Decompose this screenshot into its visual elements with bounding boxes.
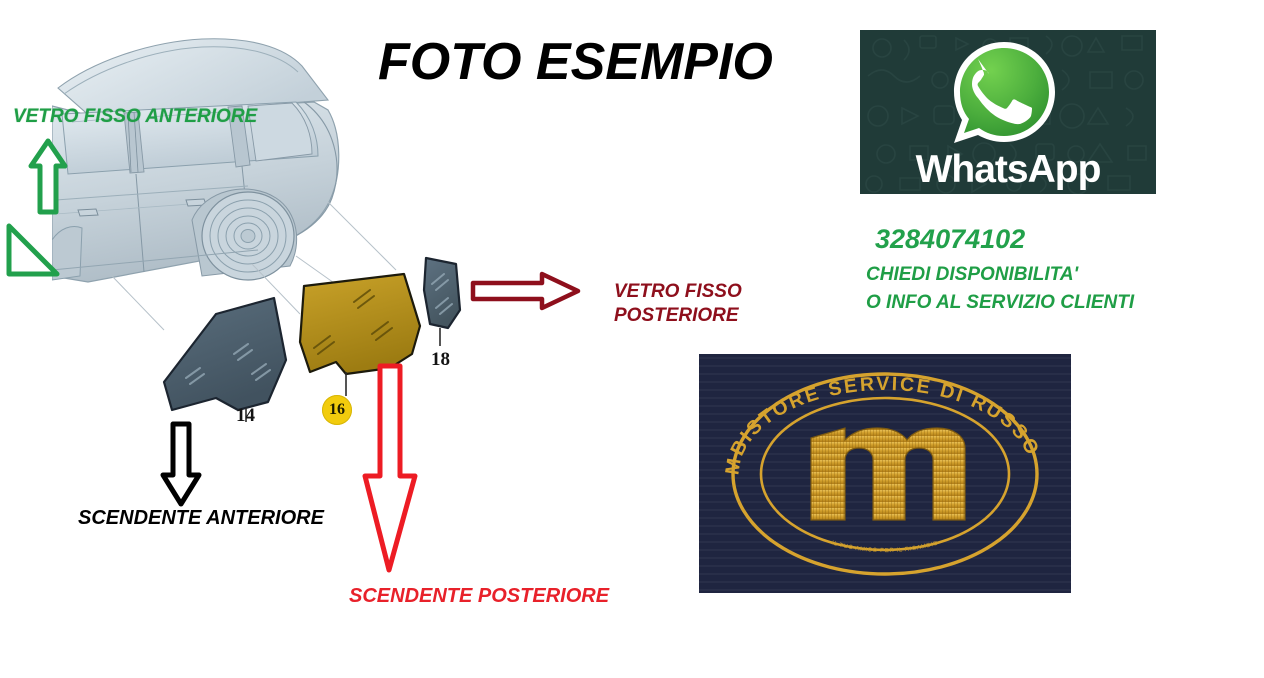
label-vetro-fisso-anteriore: VETRO FISSO ANTERIORE bbox=[13, 106, 257, 128]
screenshot-canvas: 14 16 17 18 FOTO ESEMPIO VETRO FISSO ANT… bbox=[0, 0, 1264, 678]
part-number-badge-16: 16 bbox=[322, 395, 352, 425]
label-scendente-anteriore: SCENDENTE ANTERIORE bbox=[78, 507, 324, 530]
label-vetro-fisso-posteriore: VETRO FISSO POSTERIORE bbox=[614, 280, 742, 329]
page-title: FOTO ESEMPIO bbox=[378, 36, 773, 88]
whatsapp-icon bbox=[944, 38, 1072, 154]
whatsapp-banner: WhatsApp bbox=[860, 30, 1156, 194]
shop-logo: MRICAMBISTORE SERVICE DI RUSSO MARCO IL … bbox=[699, 354, 1071, 593]
down-arrow-icon-red bbox=[358, 363, 420, 580]
phone-number[interactable]: 3284074102 bbox=[875, 224, 1025, 255]
right-arrow-icon-darkred bbox=[470, 270, 582, 317]
label-vfp-line2: POSTERIORE bbox=[614, 304, 742, 328]
part-number-18: 18 bbox=[431, 349, 450, 371]
up-arrow-icon bbox=[28, 138, 68, 221]
whatsapp-wordmark: WhatsApp bbox=[860, 150, 1156, 189]
contact-line-2: O INFO AL SERVIZIO CLIENTI bbox=[866, 292, 1134, 314]
right-triangle-icon bbox=[5, 222, 61, 283]
label-scendente-posteriore: SCENDENTE POSTERIORE bbox=[349, 585, 609, 608]
part-number-14: 14 bbox=[236, 405, 255, 427]
contact-line-1: CHIEDI DISPONIBILITA' bbox=[866, 264, 1078, 286]
label-vfp-line1: VETRO FISSO bbox=[614, 280, 742, 304]
down-arrow-icon-black bbox=[159, 421, 203, 512]
